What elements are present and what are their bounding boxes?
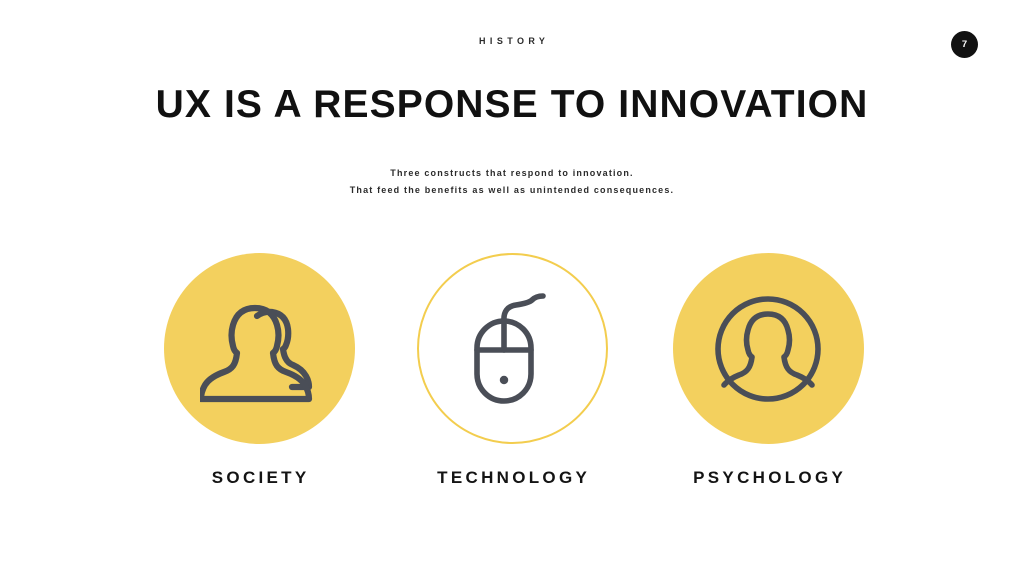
constructs-row: SOCIETY: [0, 253, 1024, 513]
construct-society: SOCIETY: [131, 253, 387, 513]
two-people-icon: [200, 294, 318, 404]
computer-mouse-icon: [458, 293, 566, 405]
construct-label-society: SOCIETY: [131, 468, 387, 488]
technology-icon-circle: [417, 253, 608, 444]
person-in-circle-icon: [713, 294, 823, 404]
construct-psychology: PSYCHOLOGY: [640, 253, 896, 513]
page-title: UX IS A RESPONSE TO INNOVATION: [0, 83, 1024, 127]
construct-label-psychology: PSYCHOLOGY: [640, 468, 896, 488]
slide-canvas: HISTORY 7 UX IS A RESPONSE TO INNOVATION…: [0, 0, 1024, 576]
subtitle-line-1: Three constructs that respond to innovat…: [0, 165, 1024, 182]
society-icon-circle: [164, 253, 355, 444]
subtitle-block: Three constructs that respond to innovat…: [0, 165, 1024, 199]
psychology-icon-circle: [673, 253, 864, 444]
construct-label-technology: TECHNOLOGY: [384, 468, 640, 488]
subtitle-line-2: That feed the benefits as well as uninte…: [0, 182, 1024, 199]
section-eyebrow: HISTORY: [0, 36, 1024, 46]
page-number-badge: 7: [951, 31, 978, 58]
construct-technology: TECHNOLOGY: [384, 253, 640, 513]
